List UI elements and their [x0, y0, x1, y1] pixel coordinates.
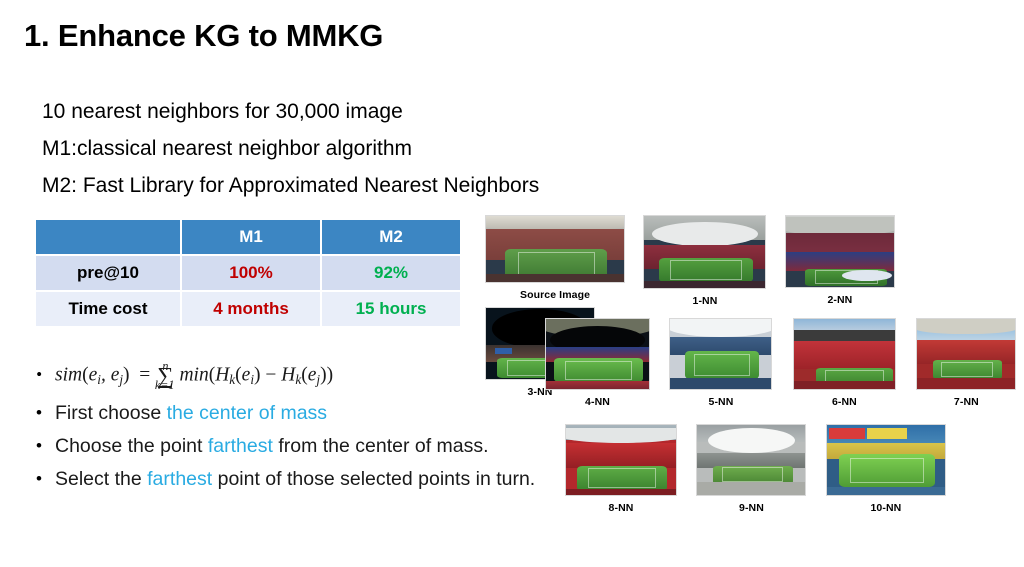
intro-line-3: M2: Fast Library for Approximated Neares…	[42, 167, 702, 204]
cell-pre10-m1: 100%	[182, 256, 320, 290]
nn-item-2-nn[interactable]: 2-NN	[785, 215, 895, 306]
nn-item-1-nn[interactable]: 1-NN	[643, 215, 766, 307]
nn-caption: Source Image	[485, 289, 625, 301]
nn-caption: 5-NN	[669, 396, 772, 408]
row-label-pre10: pre@10	[36, 256, 180, 290]
formula-comma: ,	[101, 365, 106, 386]
nn-item-7-nn[interactable]: 7-NN	[916, 318, 1016, 408]
stadium-photo-icon	[643, 215, 766, 289]
nn-item-9-nn[interactable]: 9-NN	[696, 424, 806, 514]
list-item-choose-farthest: Choose the point farthest from the cente…	[30, 433, 540, 459]
stadium-photo-icon	[565, 424, 677, 496]
nn-caption: 4-NN	[545, 396, 650, 408]
nn-gallery-row-2: 4-NN 5-NN 6-NN 7-NN	[545, 318, 1016, 408]
nn-gallery-row-3: 8-NN 9-NN 10-NN	[565, 424, 946, 514]
formula-h1: H	[215, 365, 229, 386]
bullet-4-segment-highlight: farthest	[147, 468, 212, 490]
stadium-photo-icon	[793, 318, 896, 390]
table-row: pre@10 100% 92%	[36, 256, 460, 290]
bullet-4-segment-plain-2: point of those selected points in turn.	[212, 468, 535, 490]
nn-item-10-nn[interactable]: 10-NN	[826, 424, 946, 514]
list-item-first-choose: First choose the center of mass	[30, 400, 540, 426]
bullet-3-segment-plain-2: from the center of mass.	[273, 435, 489, 457]
formula-equals: =	[139, 365, 150, 386]
cell-pre10-m2: 92%	[322, 256, 460, 290]
formula-minus: −	[265, 365, 276, 386]
nn-item-5-nn[interactable]: 5-NN	[669, 318, 772, 408]
bullet-3-segment-plain-1: Choose the point	[55, 435, 208, 457]
formula-h2: H	[281, 365, 295, 386]
nn-caption: 9-NN	[696, 502, 806, 514]
nn-caption: 8-NN	[565, 502, 677, 514]
formula-e1: e	[89, 365, 98, 386]
intro-line-1: 10 nearest neighbors for 30,000 image	[42, 93, 702, 130]
table-header-m2: M2	[322, 220, 460, 254]
nn-item-6-nn[interactable]: 6-NN	[793, 318, 896, 408]
nn-item-4-nn[interactable]: 4-NN	[545, 318, 650, 408]
stadium-photo-icon	[485, 215, 625, 283]
bullet-list: sim(ei, ej) = ∑nk=1 min(Hk(ei) − Hk(ej))…	[30, 362, 540, 499]
stadium-photo-icon	[916, 318, 1016, 390]
summation-symbol: ∑nk=1	[157, 362, 173, 390]
stadium-photo-icon	[669, 318, 772, 390]
table-row: Time cost 4 months 15 hours	[36, 292, 460, 326]
bullet-2-segment-plain: First choose	[55, 402, 167, 424]
nn-caption: 10-NN	[826, 502, 946, 514]
stadium-photo-icon	[785, 215, 895, 288]
nn-caption: 6-NN	[793, 396, 896, 408]
bullet-2-segment-highlight: the center of mass	[167, 402, 327, 424]
table-header-m1: M1	[182, 220, 320, 254]
formula-h1-close: )	[254, 365, 261, 386]
intro-text-block: 10 nearest neighbors for 30,000 image M1…	[42, 93, 702, 204]
row-label-time-cost: Time cost	[36, 292, 180, 326]
page-title: 1. Enhance KG to MMKG	[24, 18, 383, 54]
formula-sim: sim	[55, 365, 82, 386]
nn-item-8-nn[interactable]: 8-NN	[565, 424, 677, 514]
bullet-4-segment-plain-1: Select the	[55, 468, 147, 490]
formula-tail-paren: )	[327, 365, 334, 386]
nn-caption: 2-NN	[785, 294, 895, 306]
formula-min: min	[179, 365, 208, 386]
stadium-photo-icon	[545, 318, 650, 390]
formula-close-paren: )	[123, 365, 130, 386]
sum-lower-limit: k=1	[155, 372, 175, 398]
bullet-3-segment-highlight: farthest	[208, 435, 273, 457]
comparison-table: M1 M2 pre@10 100% 92% Time cost 4 months…	[34, 218, 462, 328]
list-item-select-farthest: Select the farthest point of those selec…	[30, 466, 540, 492]
cell-time-cost-m2: 15 hours	[322, 292, 460, 326]
list-item-formula: sim(ei, ej) = ∑nk=1 min(Hk(ei) − Hk(ej))	[30, 362, 540, 393]
nn-caption: 7-NN	[916, 396, 1016, 408]
stadium-photo-icon	[696, 424, 806, 496]
stadium-photo-icon	[826, 424, 946, 496]
nn-item-source-image[interactable]: Source Image	[485, 215, 625, 301]
cell-time-cost-m1: 4 months	[182, 292, 320, 326]
intro-line-2: M1:classical nearest neighbor algorithm	[42, 130, 702, 167]
table-header-row: M1 M2	[36, 220, 460, 254]
nn-caption: 1-NN	[643, 295, 766, 307]
table-header-empty	[36, 220, 180, 254]
